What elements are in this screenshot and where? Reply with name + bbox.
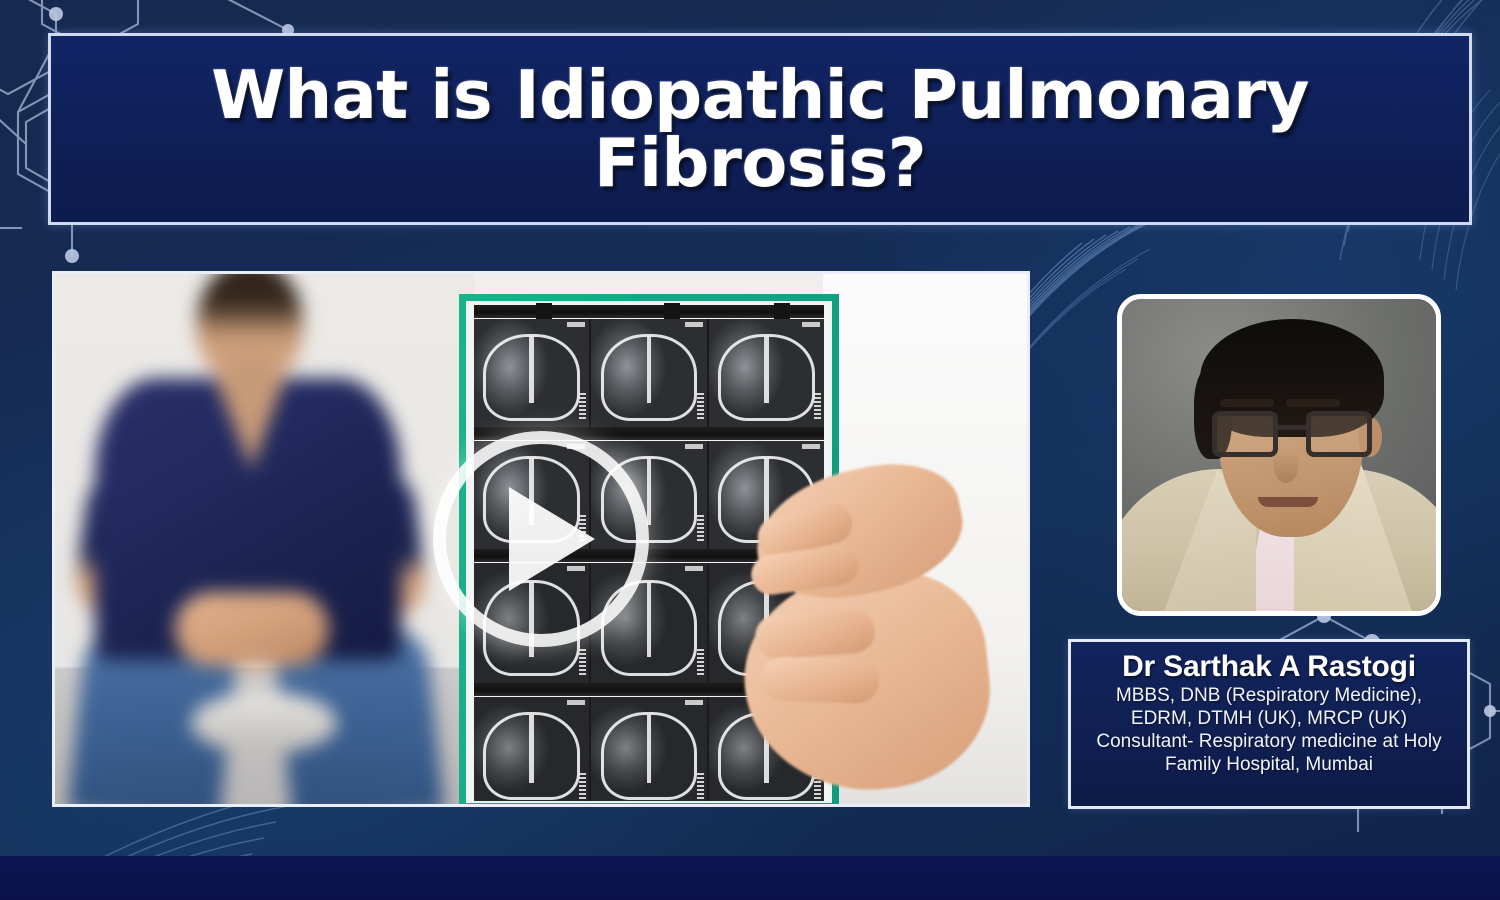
title-line-2: Fibrosis? [594,124,926,202]
credentials-line-1: MBBS, DNB (Respiratory Medicine), [1079,684,1459,707]
speaker-credentials-panel: Dr Sarthak A Rastogi MBBS, DNB (Respirat… [1068,639,1470,809]
play-triangle-icon [509,487,595,591]
play-icon[interactable] [433,431,649,647]
affiliation-line-2: Family Hospital, Mumbai [1079,753,1459,776]
slide-canvas: What is Idiopathic Pulmonary Fibrosis? [0,0,1500,900]
credentials-line-2: EDRM, DTMH (UK), MRCP (UK) [1079,707,1459,730]
title-panel: What is Idiopathic Pulmonary Fibrosis? [48,33,1472,225]
page-title: What is Idiopathic Pulmonary Fibrosis? [51,61,1469,198]
bottom-bar [0,856,1500,900]
title-line-1: What is Idiopathic Pulmonary [211,56,1309,134]
affiliation-line-1: Consultant- Respiratory medicine at Holy [1079,730,1459,753]
glasses-icon [1212,411,1372,459]
video-thumbnail[interactable] [52,271,1030,807]
blurred-patient [55,274,475,804]
doctor-name: Dr Sarthak A Rastogi [1079,650,1459,684]
avatar [1117,294,1441,616]
ct-film-row [474,319,824,427]
